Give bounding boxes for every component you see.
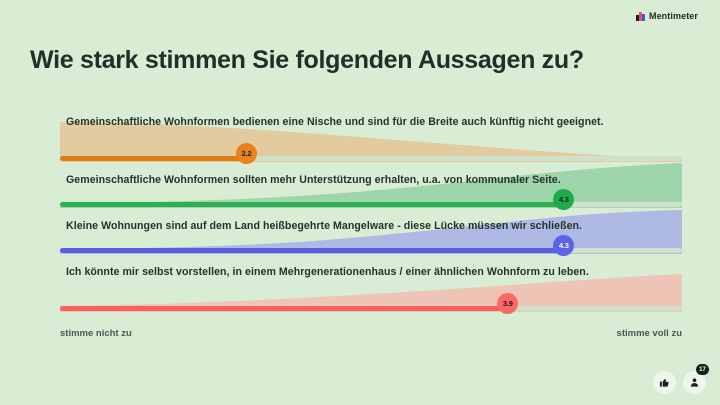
statement-row: Kleine Wohnungen sind auf dem Land heißb… bbox=[38, 216, 682, 262]
value-badge: 2.2 bbox=[236, 143, 257, 164]
person-icon bbox=[689, 377, 700, 388]
statement-text: Gemeinschaftliche Wohnformen bedienen ei… bbox=[66, 114, 640, 130]
value-fill bbox=[60, 202, 564, 207]
value-badge: 3.9 bbox=[497, 293, 518, 314]
value-track: 4.3 bbox=[60, 202, 682, 207]
value-fill bbox=[60, 248, 564, 253]
statement-row: Ich könnte mir selbst vorstellen, in ein… bbox=[38, 262, 682, 320]
statement-text: Gemeinschaftliche Wohnformen sollten meh… bbox=[66, 172, 640, 188]
page-title: Wie stark stimmen Sie folgenden Aussagen… bbox=[30, 46, 680, 75]
value-fill bbox=[60, 156, 247, 161]
value-badge: 4.3 bbox=[553, 235, 574, 256]
value-track: 4.3 bbox=[60, 248, 682, 253]
axis-label-right: stimme voll zu bbox=[617, 328, 682, 339]
reactions-button[interactable] bbox=[653, 371, 676, 394]
participant-count-badge: 17 bbox=[696, 364, 709, 375]
mentimeter-logo: Mentimeter bbox=[636, 11, 698, 21]
participants-button[interactable]: 17 bbox=[683, 371, 706, 394]
statement-text: Kleine Wohnungen sind auf dem Land heißb… bbox=[66, 218, 640, 234]
scale-axis: stimme nicht zu stimme voll zu bbox=[60, 328, 682, 339]
thumbs-up-icon bbox=[659, 377, 670, 388]
mentimeter-logo-icon bbox=[636, 12, 645, 21]
brand-name: Mentimeter bbox=[649, 11, 698, 21]
statement-text: Ich könnte mir selbst vorstellen, in ein… bbox=[66, 264, 640, 280]
value-track: 3.9 bbox=[60, 306, 682, 311]
slide-toolbar: 17 bbox=[653, 371, 706, 394]
axis-label-left: stimme nicht zu bbox=[60, 328, 132, 339]
value-fill bbox=[60, 306, 508, 311]
value-track: 2.2 bbox=[60, 156, 682, 161]
value-badge: 4.3 bbox=[553, 189, 574, 210]
scales-chart: Gemeinschaftliche Wohnformen bedienen ei… bbox=[38, 112, 682, 312]
